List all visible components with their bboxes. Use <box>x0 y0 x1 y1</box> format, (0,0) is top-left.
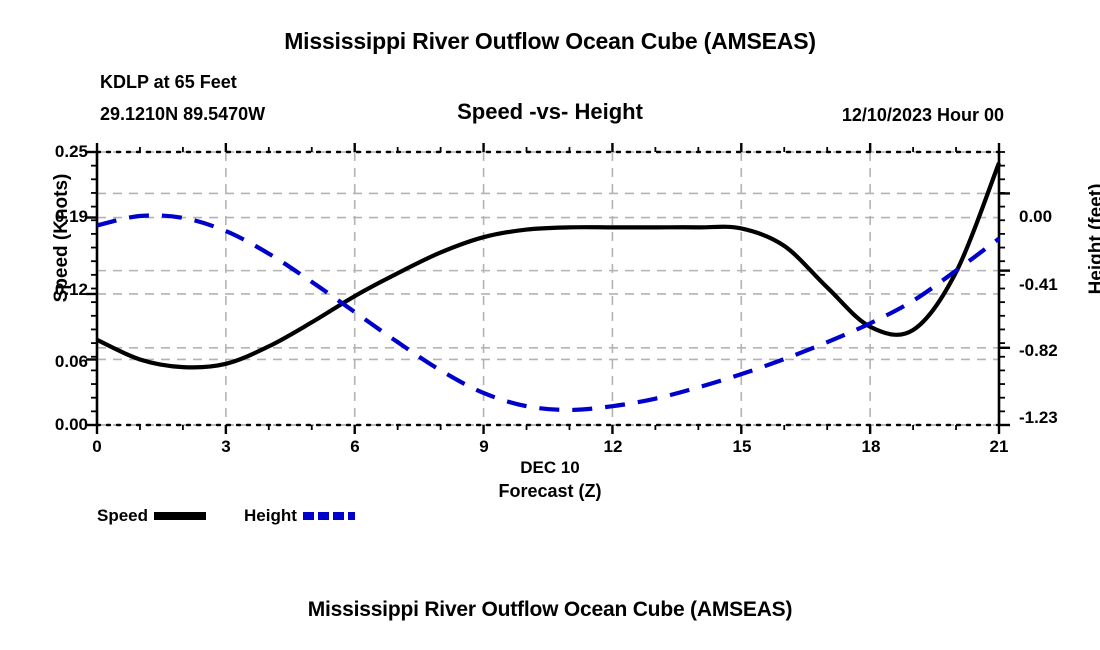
series-line-height <box>97 215 999 410</box>
chart-page: Mississippi River Outflow Ocean Cube (AM… <box>0 0 1100 650</box>
footer-title: Mississippi River Outflow Ocean Cube (AM… <box>0 598 1100 622</box>
plot-area <box>0 0 1100 650</box>
